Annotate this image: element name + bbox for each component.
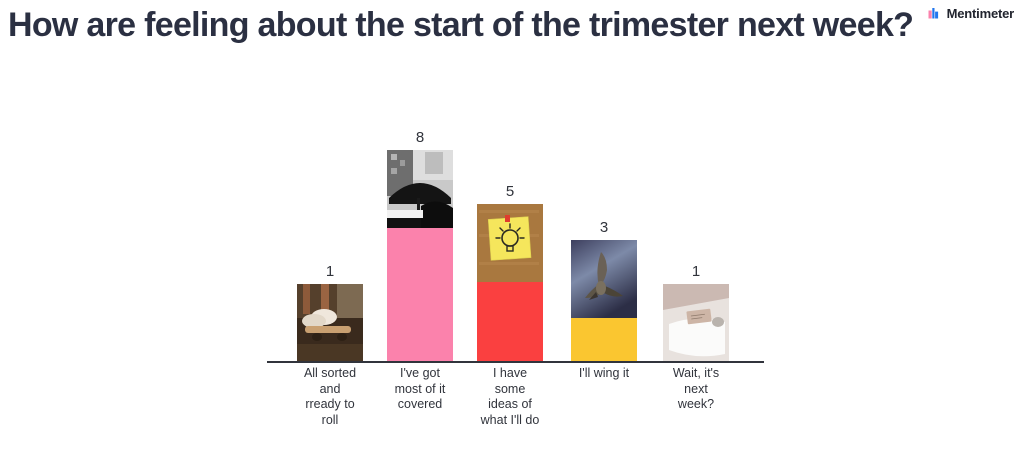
bar-group: 8 [387, 150, 453, 362]
bar-category-label-2: I have some ideas of what I'll do [471, 366, 549, 428]
bar-fill [571, 318, 637, 362]
bar-group: 1 [663, 284, 729, 362]
bar-image-skateboard-photo [297, 284, 363, 362]
bar-fill [477, 282, 543, 362]
label-line: All sorted [291, 366, 369, 382]
label-line: rready to [291, 397, 369, 413]
bar-group: 1 [297, 284, 363, 362]
poll-results-chart: 1 [267, 120, 764, 440]
bar-column[interactable] [297, 284, 363, 362]
bar-category-label-1: I've got most of it covered [381, 366, 459, 413]
bar-category-label-0: All sorted and rready to roll [291, 366, 369, 428]
bar-value-label: 8 [387, 129, 453, 146]
label-line: I'll wing it [565, 366, 643, 382]
bar-image-bird-flying-photo [571, 240, 637, 318]
label-line: I have [471, 366, 549, 382]
bar-category-label-4: Wait, it's next week? [657, 366, 735, 413]
bar-column[interactable] [477, 204, 543, 362]
bar-group: 3 [571, 240, 637, 362]
mentimeter-bars-icon [928, 7, 942, 21]
label-line: and [291, 382, 369, 398]
chart-category-labels: All sorted and rready to roll I've got m… [267, 366, 764, 440]
label-line: roll [291, 413, 369, 429]
bar-column[interactable] [387, 150, 453, 362]
bar-value-label: 5 [477, 183, 543, 200]
page-title: How are feeling about the start of the t… [8, 2, 918, 49]
label-line: some [471, 382, 549, 398]
bar-image-toilet-cistern-note-photo [663, 284, 729, 362]
label-line: Wait, it's [657, 366, 735, 382]
label-line: next [657, 382, 735, 398]
logo-text: Mentimeter [947, 6, 1014, 21]
label-line: what I'll do [471, 413, 549, 429]
bar-category-label-3: I'll wing it [565, 366, 643, 382]
bar-column[interactable] [571, 240, 637, 362]
mentimeter-logo: Mentimeter [928, 6, 1014, 21]
label-line: week? [657, 397, 735, 413]
label-line: covered [381, 397, 459, 413]
bar-fill [387, 228, 453, 362]
bar-series: 1 [267, 120, 764, 362]
label-line: most of it [381, 382, 459, 398]
bar-value-label: 3 [571, 219, 637, 236]
bar-image-sticky-note-lightbulb-photo [477, 204, 543, 282]
label-line: I've got [381, 366, 459, 382]
bar-value-label: 1 [297, 263, 363, 280]
label-line: ideas of [471, 397, 549, 413]
chart-axis-line [267, 361, 764, 363]
chart-plot-area: 1 [267, 120, 764, 362]
bar-value-label: 1 [663, 263, 729, 280]
bar-image-umbrella-rain-blackwhite-photo [387, 150, 453, 228]
bar-group: 5 [477, 204, 543, 362]
bar-column[interactable] [663, 284, 729, 362]
